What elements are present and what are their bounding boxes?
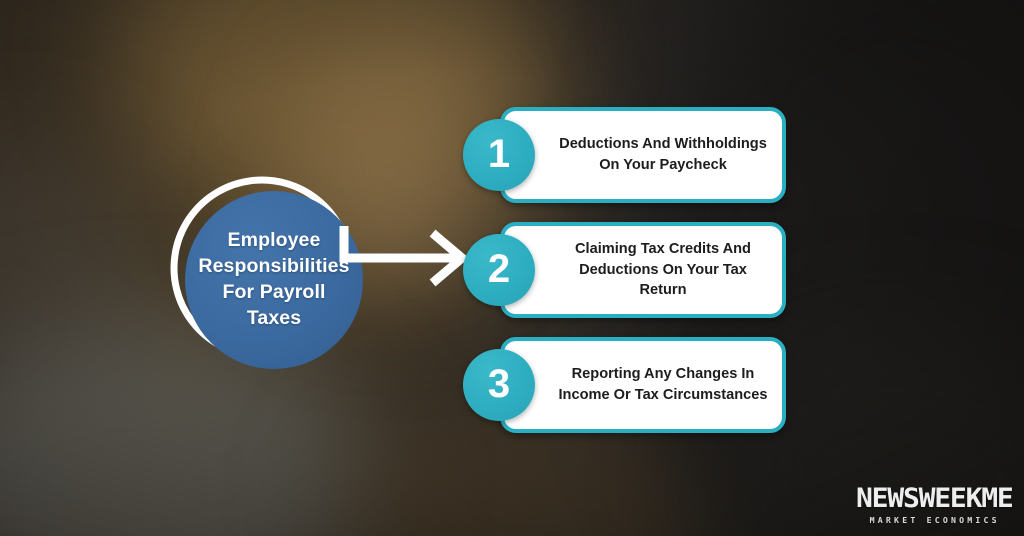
- watermark-logo: NEWSWEEKME MARKET ECONOMICS: [859, 485, 1010, 524]
- step-badge-1: 1: [463, 119, 535, 191]
- step-badge-1-number: 1: [488, 134, 510, 174]
- step-card-2[interactable]: Claiming Tax Credits And Deductions On Y…: [500, 222, 786, 318]
- step-card-1-text: Deductions And Withholdings On Your Payc…: [556, 111, 770, 199]
- step-card-2-text: Claiming Tax Credits And Deductions On Y…: [556, 226, 770, 314]
- infographic-canvas: Employee Responsibilities For Payroll Ta…: [0, 0, 1024, 536]
- hub-node: Employee Responsibilities For Payroll Ta…: [168, 176, 364, 372]
- step-badge-3: 3: [463, 349, 535, 421]
- step-badge-2: 2: [463, 234, 535, 306]
- step-card-1[interactable]: Deductions And Withholdings On Your Payc…: [500, 107, 786, 203]
- watermark-tagline: MARKET ECONOMICS: [859, 516, 1010, 524]
- step-card-3[interactable]: Reporting Any Changes In Income Or Tax C…: [500, 337, 786, 433]
- step-badge-3-number: 3: [488, 364, 510, 404]
- step-badge-2-number: 2: [488, 249, 510, 289]
- step-card-3-text: Reporting Any Changes In Income Or Tax C…: [556, 341, 770, 429]
- watermark-wordmark: NEWSWEEKME: [856, 485, 1013, 512]
